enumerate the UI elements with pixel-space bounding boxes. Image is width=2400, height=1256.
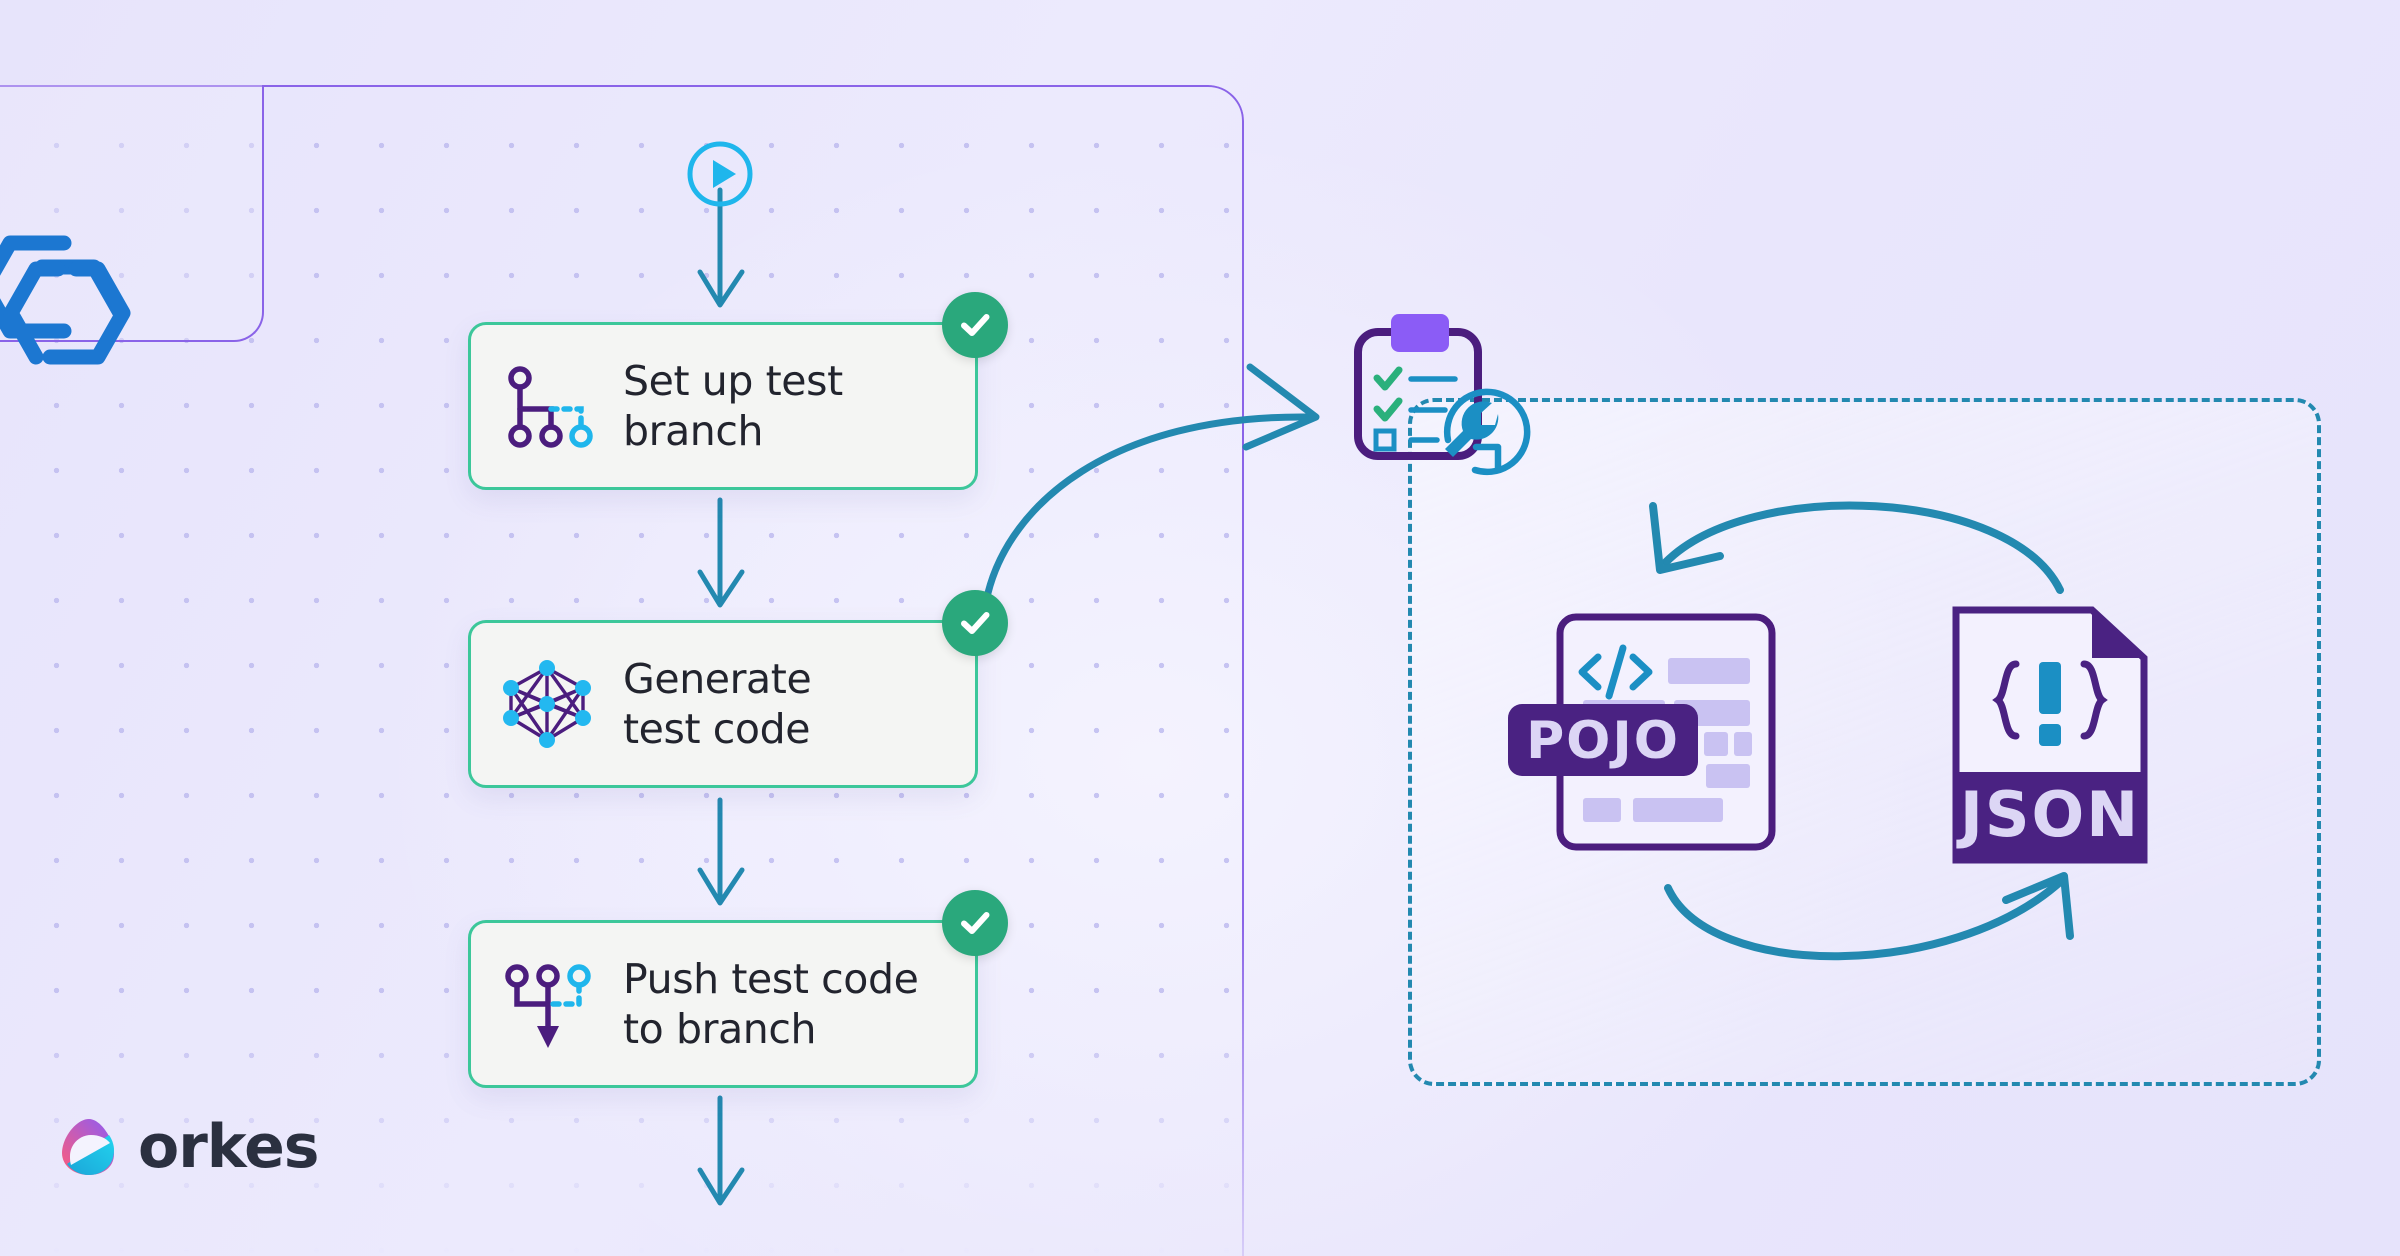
git-merge-push-icon xyxy=(497,954,597,1054)
check-circle-icon xyxy=(942,890,1008,956)
check-icon xyxy=(1377,370,1399,418)
pojo-badge-label: POJO xyxy=(1526,711,1680,771)
json-badge-label: JSON xyxy=(1956,778,2140,851)
workflow-node-push-test-code-to-branch[interactable]: Push test code to branch xyxy=(468,920,978,1088)
workflow-node-set-up-test-branch[interactable]: Set up test branch xyxy=(468,322,978,490)
check-circle-icon xyxy=(942,292,1008,358)
workflow-node-generate-test-code[interactable]: Generate test code xyxy=(468,620,978,788)
play-circle-icon[interactable] xyxy=(686,140,754,208)
arc-json-to-pojo xyxy=(1590,470,2070,620)
json-file-icon: JSON xyxy=(1950,604,2150,866)
clipboard-checklist-wrench-icon xyxy=(1345,310,1545,490)
empty-checkbox-icon xyxy=(1376,431,1394,449)
node-label: Set up test branch xyxy=(623,356,843,457)
diagram-canvas: orkes xyxy=(0,0,2400,1256)
node-label: Push test code to branch xyxy=(623,954,918,1055)
check-circle-icon xyxy=(942,590,1008,656)
git-branch-icon xyxy=(497,356,597,456)
code-file-icon: POJO xyxy=(1508,612,1778,852)
node-label: Generate test code xyxy=(623,654,811,755)
neural-network-icon xyxy=(497,654,597,754)
curved-arrow-to-validation-panel xyxy=(960,355,1380,615)
